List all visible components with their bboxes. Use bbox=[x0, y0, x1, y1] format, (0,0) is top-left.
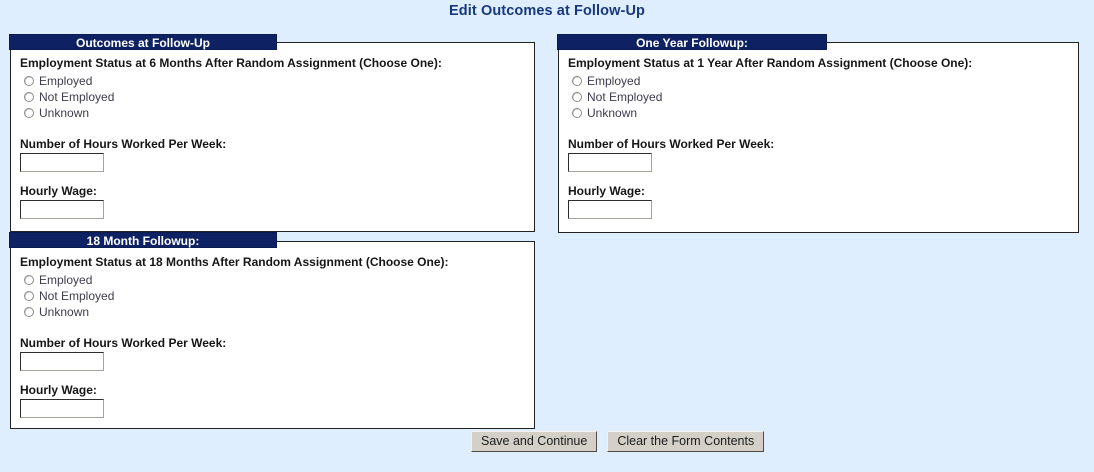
legend-outcomes-followup: Outcomes at Follow-Up bbox=[9, 34, 277, 50]
radio-icon[interactable] bbox=[24, 291, 34, 301]
employment-status-question-6mo: Employment Status at 6 Months After Rand… bbox=[20, 56, 442, 70]
radio-label: Unknown bbox=[587, 106, 637, 120]
save-and-continue-button[interactable]: Save and Continue bbox=[471, 431, 597, 452]
radio-icon[interactable] bbox=[572, 76, 582, 86]
legend-one-year-followup: One Year Followup: bbox=[557, 34, 827, 50]
clear-form-contents-button[interactable]: Clear the Form Contents bbox=[607, 431, 764, 452]
radio-label: Not Employed bbox=[587, 90, 662, 104]
employment-status-question-1yr: Employment Status at 1 Year After Random… bbox=[568, 56, 972, 70]
section-one-year-followup: Employment Status at 1 Year After Random… bbox=[558, 42, 1079, 233]
hours-worked-input-1yr[interactable] bbox=[568, 153, 652, 172]
hours-worked-input-6mo[interactable] bbox=[20, 153, 104, 172]
hours-worked-label-18mo: Number of Hours Worked Per Week: bbox=[20, 336, 448, 350]
radio-option-unknown-18mo[interactable]: Unknown bbox=[24, 304, 448, 320]
hours-worked-label-1yr: Number of Hours Worked Per Week: bbox=[568, 137, 972, 151]
radio-option-not-employed-1yr[interactable]: Not Employed bbox=[572, 89, 972, 105]
hourly-wage-label-6mo: Hourly Wage: bbox=[20, 184, 442, 198]
radio-option-not-employed-18mo[interactable]: Not Employed bbox=[24, 288, 448, 304]
hourly-wage-input-6mo[interactable] bbox=[20, 200, 104, 219]
radio-icon[interactable] bbox=[24, 108, 34, 118]
hourly-wage-label-18mo: Hourly Wage: bbox=[20, 383, 448, 397]
hourly-wage-input-18mo[interactable] bbox=[20, 399, 104, 418]
form-button-bar: Save and Continue Clear the Form Content… bbox=[471, 431, 764, 452]
radio-option-employed-18mo[interactable]: Employed bbox=[24, 272, 448, 288]
radio-label: Employed bbox=[39, 74, 92, 88]
radio-option-not-employed-6mo[interactable]: Not Employed bbox=[24, 89, 442, 105]
hourly-wage-input-1yr[interactable] bbox=[568, 200, 652, 219]
radio-option-employed-1yr[interactable]: Employed bbox=[572, 73, 972, 89]
radio-icon[interactable] bbox=[572, 108, 582, 118]
radio-icon[interactable] bbox=[572, 92, 582, 102]
radio-label: Not Employed bbox=[39, 289, 114, 303]
hourly-wage-label-1yr: Hourly Wage: bbox=[568, 184, 972, 198]
hours-worked-input-18mo[interactable] bbox=[20, 352, 104, 371]
radio-icon[interactable] bbox=[24, 76, 34, 86]
radio-label: Employed bbox=[39, 273, 92, 287]
radio-icon[interactable] bbox=[24, 275, 34, 285]
legend-18-month-followup: 18 Month Followup: bbox=[9, 232, 277, 248]
radio-option-unknown-1yr[interactable]: Unknown bbox=[572, 105, 972, 121]
radio-label: Unknown bbox=[39, 305, 89, 319]
radio-icon[interactable] bbox=[24, 92, 34, 102]
radio-label: Employed bbox=[587, 74, 640, 88]
page-title: Edit Outcomes at Follow-Up bbox=[0, 3, 1094, 19]
section-outcomes-followup: Employment Status at 6 Months After Rand… bbox=[10, 42, 535, 232]
radio-option-unknown-6mo[interactable]: Unknown bbox=[24, 105, 442, 121]
radio-label: Unknown bbox=[39, 106, 89, 120]
radio-option-employed-6mo[interactable]: Employed bbox=[24, 73, 442, 89]
employment-status-question-18mo: Employment Status at 18 Months After Ran… bbox=[20, 255, 448, 269]
hours-worked-label-6mo: Number of Hours Worked Per Week: bbox=[20, 137, 442, 151]
radio-icon[interactable] bbox=[24, 307, 34, 317]
section-18-month-followup: Employment Status at 18 Months After Ran… bbox=[10, 241, 535, 429]
radio-label: Not Employed bbox=[39, 90, 114, 104]
